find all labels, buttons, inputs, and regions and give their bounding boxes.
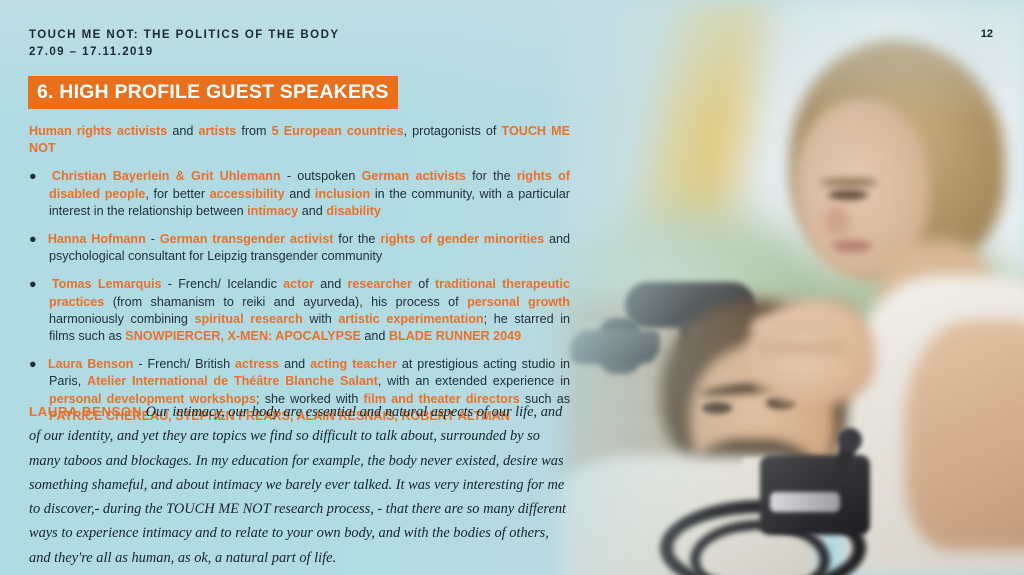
highlight-text: spiritual research [195, 312, 303, 326]
body-text: and [279, 357, 310, 371]
body-text: for the [333, 232, 380, 246]
speaker-name: Laura Benson [48, 357, 133, 371]
intro-seg-5: 5 European countries [272, 124, 404, 138]
speaker-name: Hanna Hofmann [48, 232, 146, 246]
highlight-text: inclusion [315, 187, 370, 201]
speaker-bullet: ● Christian Bayerlein & Grit Uhlemann - … [29, 168, 570, 220]
speaker-name: Christian Bayerlein & Grit Uhlemann [52, 169, 281, 183]
exhibition-title: TOUCH ME NOT: THE POLITICS OF THE BODY [29, 27, 339, 44]
page-number: 12 [981, 28, 993, 40]
slide-header: TOUCH ME NOT: THE POLITICS OF THE BODY 2… [29, 27, 339, 61]
intro-seg-6: , protagonists of [404, 124, 502, 138]
body-text: and [298, 204, 326, 218]
highlight-text: acting teacher [310, 357, 397, 371]
speaker-name: Tomas Lemarquis [52, 277, 162, 291]
highlight-text: personal growth [467, 295, 570, 309]
intro-seg-4: from [236, 124, 271, 138]
highlight-text: accessibility [210, 187, 285, 201]
highlight-text: artistic experimentation [338, 312, 483, 326]
highlight-text: BLADE RUNNER 2049 [389, 329, 521, 343]
body-text: for the [466, 169, 517, 183]
bullet-spacer [39, 277, 52, 291]
body-text: harmoniously combining [49, 312, 195, 326]
intro-seg-3: artists [198, 124, 236, 138]
bullet-spacer [38, 357, 48, 371]
slide-content: TOUCH ME NOT: THE POLITICS OF THE BODY 2… [0, 0, 1024, 575]
body-text: (from shamanism to reiki and ayurveda), … [104, 295, 467, 309]
body-text: and [314, 277, 348, 291]
body-text: - French/ Icelandic [162, 277, 284, 291]
body-text: , with an extended experience in [378, 374, 570, 388]
body-text: - French/ British [133, 357, 235, 371]
highlight-text: intimacy [247, 204, 298, 218]
body-text: of [412, 277, 435, 291]
highlight-text: rights of gender minorities [380, 232, 544, 246]
bullet-dot-icon: ● [29, 277, 39, 291]
bullet-dot-icon: ● [29, 169, 39, 183]
body-text: - outspoken [281, 169, 362, 183]
body-text: , for better [145, 187, 209, 201]
highlight-text: German activists [362, 169, 466, 183]
highlight-text: actress [235, 357, 279, 371]
body-text: and [361, 329, 389, 343]
bullet-spacer [39, 169, 52, 183]
highlight-text: SNOWPIERCER, X-MEN: APOCALYPSE [125, 329, 361, 343]
bullet-dot-icon: ● [29, 357, 38, 371]
quote-speaker: LAURA BENSON [29, 404, 142, 419]
intro-seg-1: Human rights activists [29, 124, 167, 138]
body-text: and [285, 187, 315, 201]
bullet-spacer [38, 232, 48, 246]
bullet-dot-icon: ● [29, 232, 38, 246]
quote-text: Our intimacy, our body are essential and… [29, 404, 566, 566]
highlight-text: researcher [348, 277, 412, 291]
intro-paragraph: Human rights activists and artists from … [29, 123, 570, 157]
pull-quote: LAURA BENSON Our intimacy, our body are … [29, 400, 570, 570]
highlight-text: Atelier International de Théâtre Blanche… [87, 374, 378, 388]
body-text: - [146, 232, 160, 246]
presentation-slide: TOUCH ME NOT: THE POLITICS OF THE BODY 2… [0, 0, 1024, 575]
body-text: with [303, 312, 339, 326]
speaker-bullet: ● Tomas Lemarquis - French/ Icelandic ac… [29, 276, 570, 345]
speaker-bullet: ● Hanna Hofmann - German transgender act… [29, 231, 570, 265]
section-heading: 6. HIGH PROFILE GUEST SPEAKERS [28, 76, 398, 109]
intro-seg-2: and [167, 124, 198, 138]
speakers-body: Human rights activists and artists from … [29, 123, 570, 425]
highlight-text: German transgender activist [160, 232, 334, 246]
highlight-text: disability [326, 204, 381, 218]
exhibition-dates: 27.09 – 17.11.2019 [29, 44, 339, 61]
highlight-text: actor [283, 277, 314, 291]
